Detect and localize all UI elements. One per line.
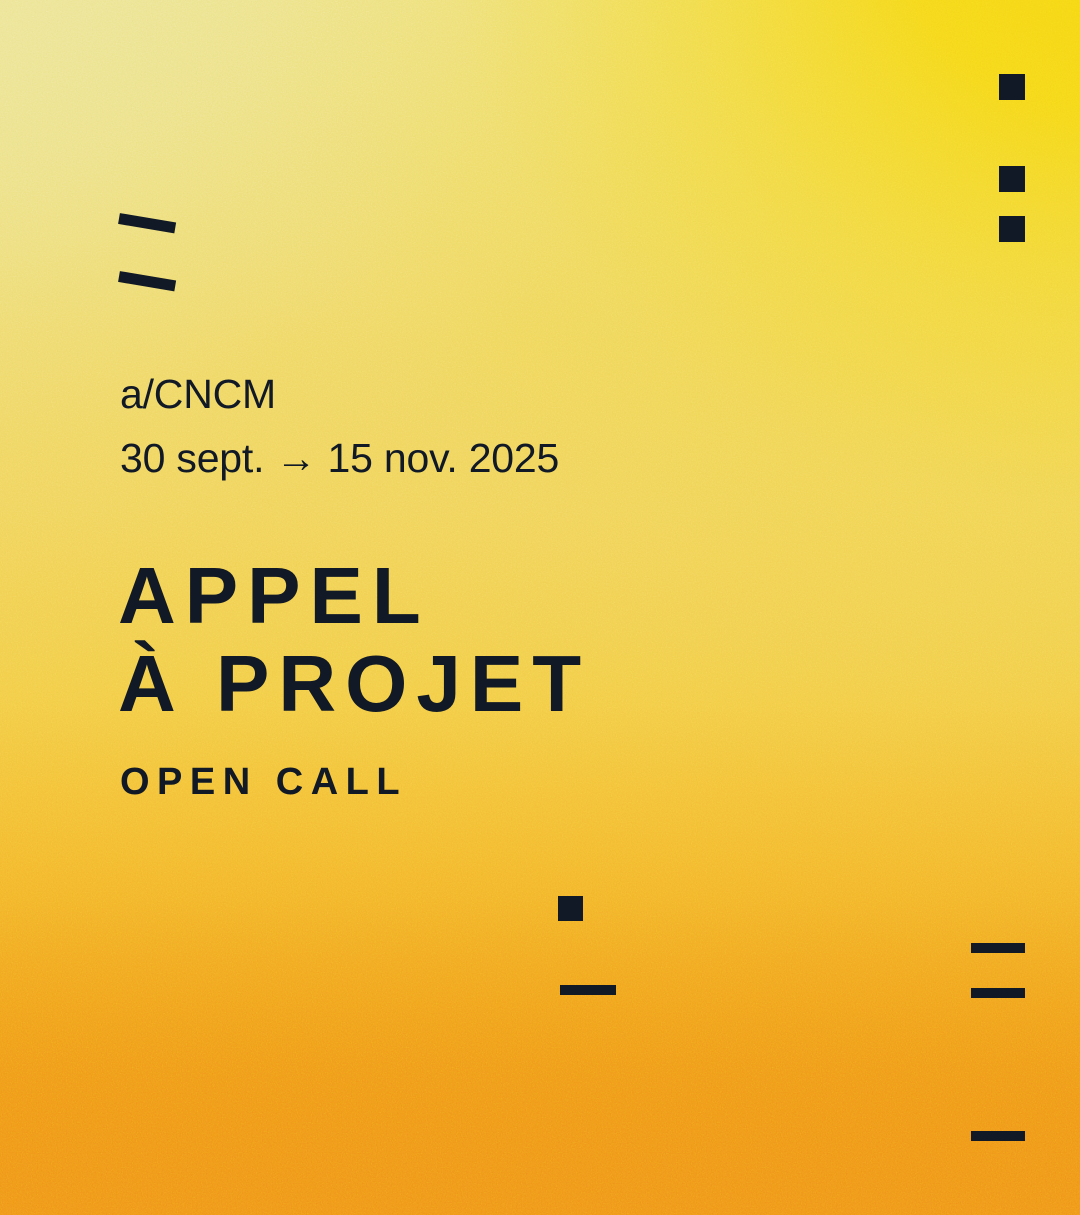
dash-marker-icon — [971, 988, 1025, 998]
square-marker-icon — [999, 74, 1025, 100]
date-range-label: 30 sept. → 15 nov. 2025 — [120, 426, 559, 490]
square-marker-icon — [999, 216, 1025, 242]
page-title: APPEL À PROJET — [118, 552, 590, 728]
square-marker-icon — [999, 166, 1025, 192]
organisation-label: a/CNCM — [120, 362, 559, 426]
tilted-dash-icon — [118, 271, 176, 291]
page-subtitle: OPEN CALL — [120, 760, 407, 804]
poster-content: a/CNCM 30 sept. → 15 nov. 2025 APPEL À P… — [0, 0, 1080, 1215]
headline-line-2: À PROJET — [118, 640, 590, 728]
poster-canvas: a/CNCM 30 sept. → 15 nov. 2025 APPEL À P… — [0, 0, 1080, 1215]
poster-meta: a/CNCM 30 sept. → 15 nov. 2025 — [120, 362, 559, 490]
dash-marker-icon — [971, 1131, 1025, 1141]
dash-marker-icon — [971, 943, 1025, 953]
dash-marker-icon — [560, 985, 616, 995]
tilted-dash-icon — [118, 213, 176, 233]
square-marker-icon — [558, 896, 583, 921]
headline-line-1: APPEL — [118, 552, 590, 640]
